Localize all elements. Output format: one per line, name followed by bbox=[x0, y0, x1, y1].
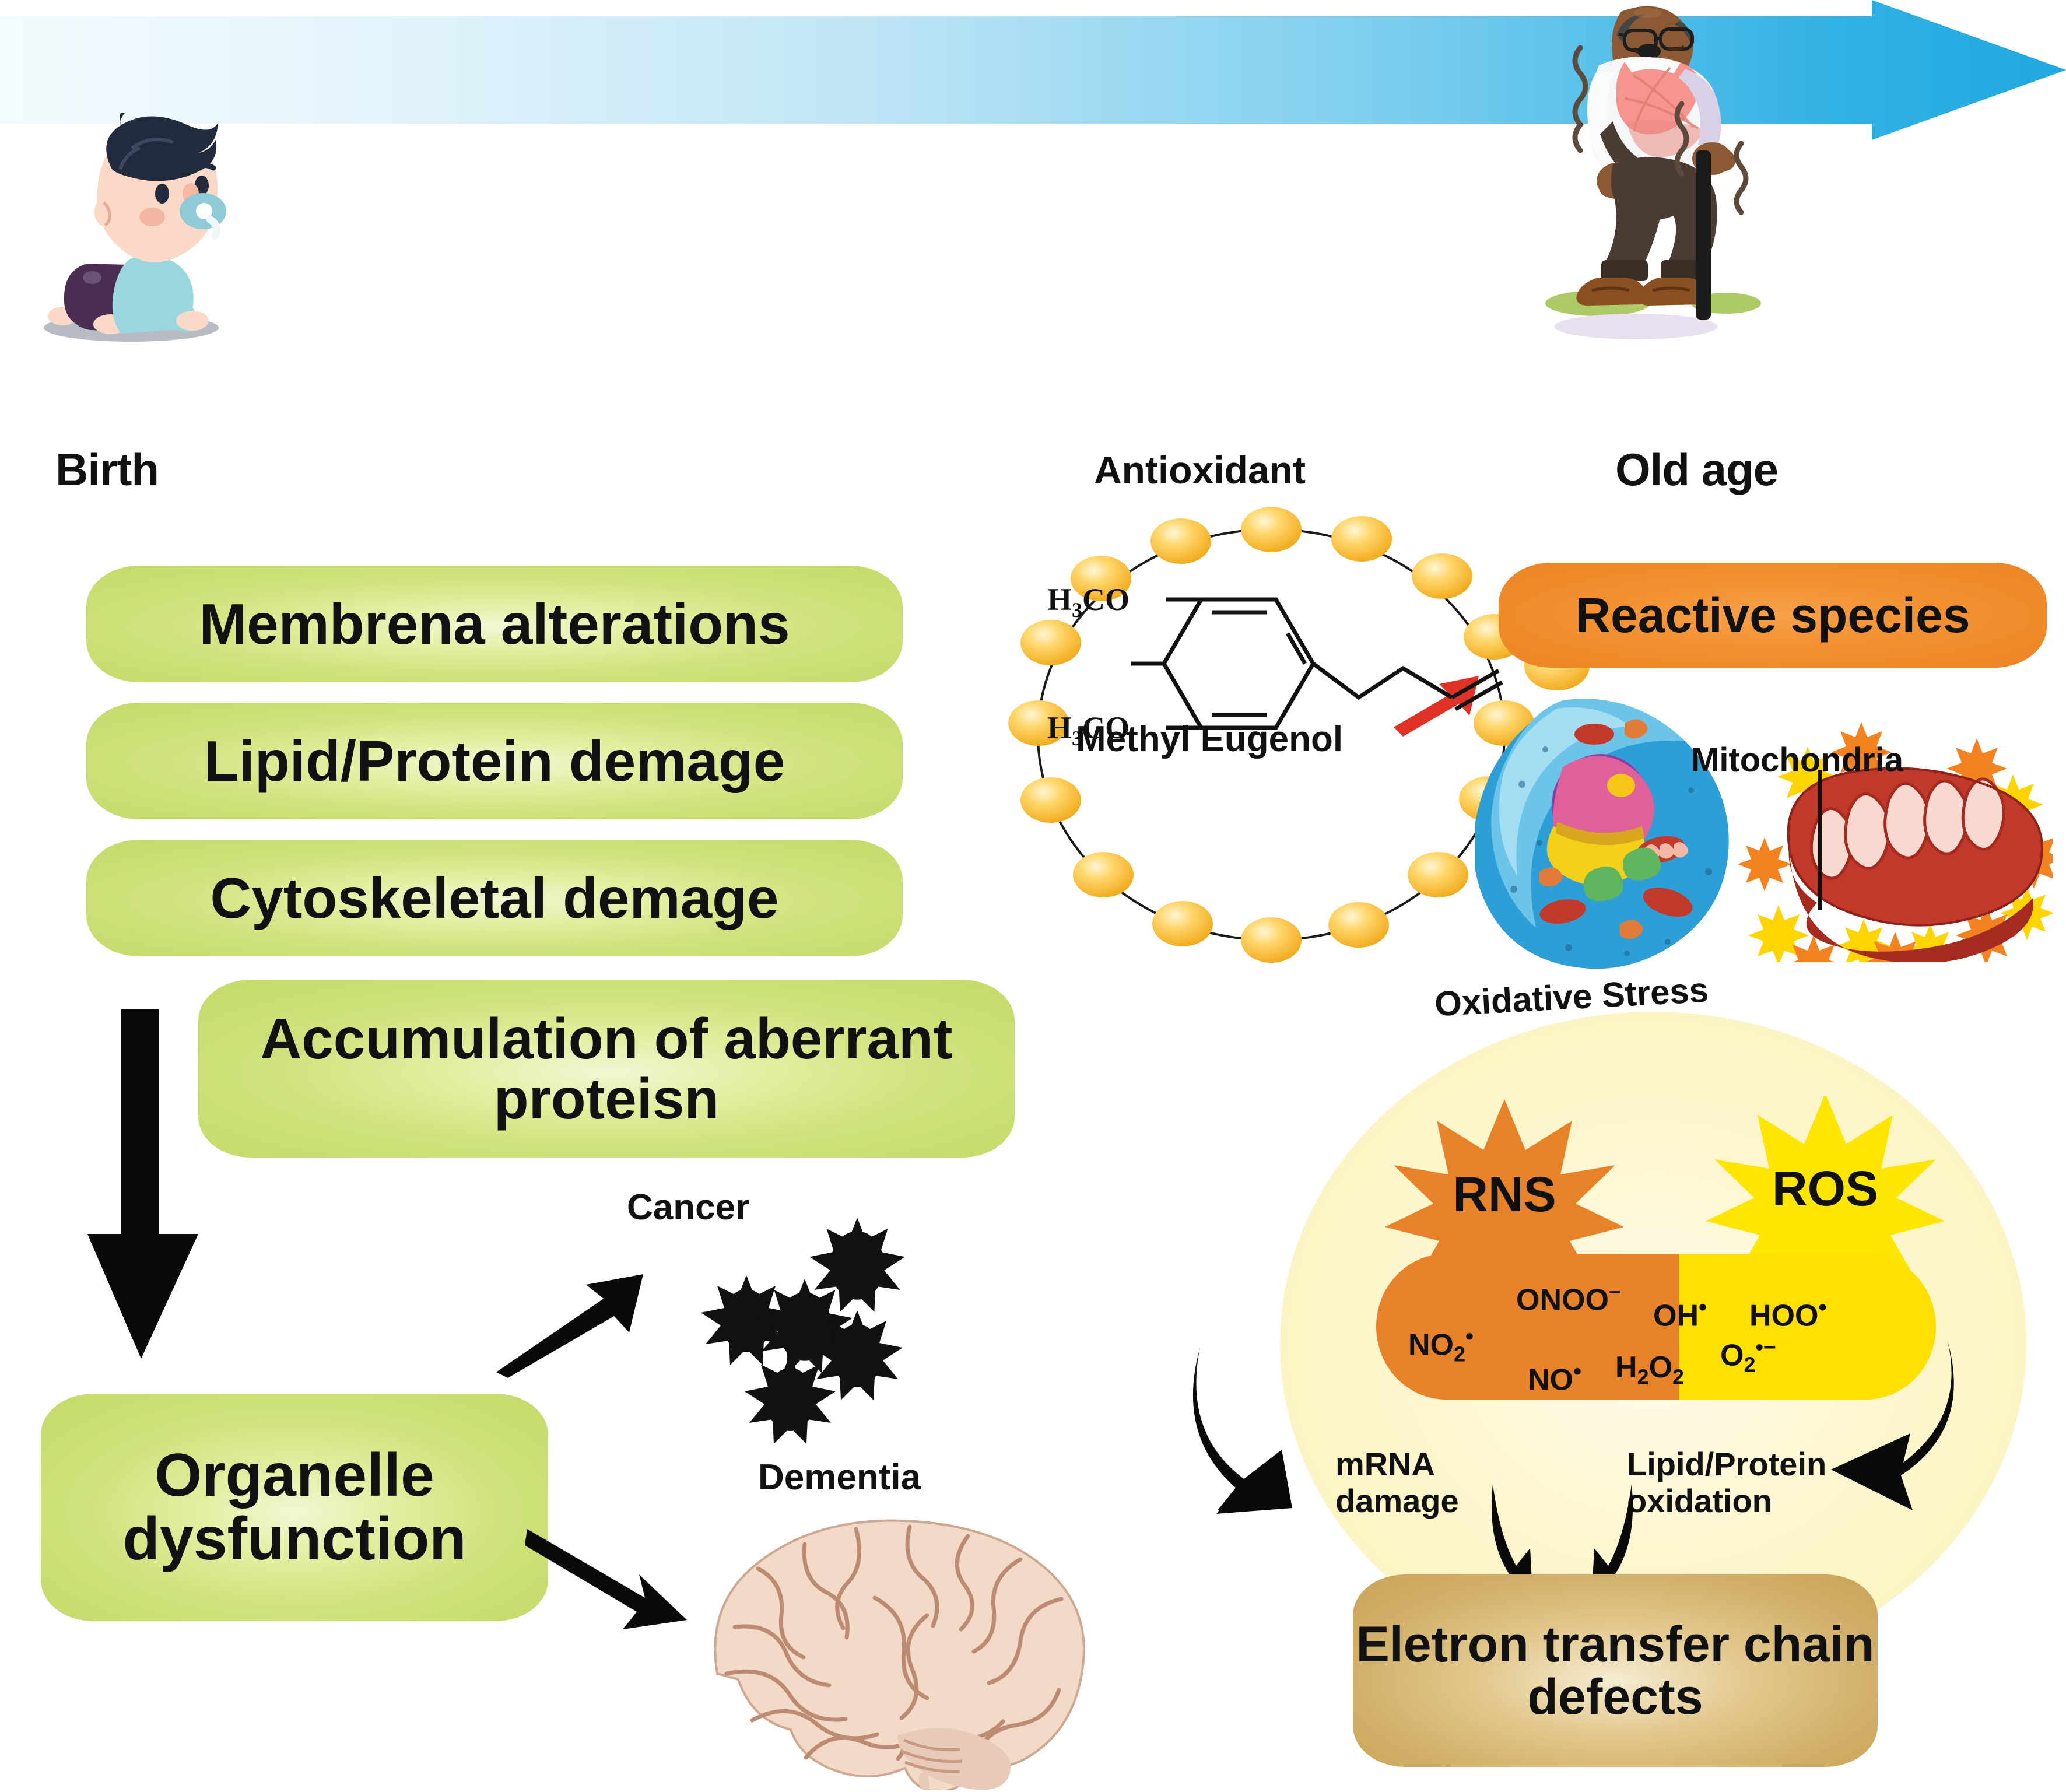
mrna-damage-label: mRNA damage bbox=[1335, 1446, 1459, 1519]
birth-label: Birth bbox=[55, 443, 159, 496]
brain-illustration bbox=[653, 1499, 1120, 1790]
mitochondria-label: Mitochondria bbox=[1691, 741, 1903, 780]
box-aberrant-protein-accumulation[interactable]: Accumulation of aberrant proteisn bbox=[198, 980, 1015, 1158]
arrow-to-cancer bbox=[493, 1274, 644, 1379]
mitochondria-leader-line bbox=[1816, 770, 1823, 910]
curved-arrow-to-lipid-oxidation bbox=[1831, 1330, 2064, 1539]
elderly-man-illustration bbox=[1510, 0, 1802, 356]
animal-cell-illustration bbox=[1475, 697, 1744, 977]
down-arrow-to-organelle-dysfunction bbox=[87, 1009, 222, 1359]
cancer-cells-illustration bbox=[682, 1201, 1009, 1505]
box-organelle-dysfunction[interactable]: Organelle dysfunction bbox=[41, 1394, 548, 1621]
antioxidant-title: Antioxidant bbox=[1094, 448, 1306, 492]
box-lipid-protein-damage[interactable]: Lipid/Protein demage bbox=[86, 703, 903, 819]
rns-label: RNS bbox=[1434, 1166, 1574, 1223]
old-age-label: Old age bbox=[1615, 443, 1778, 496]
box-electron-transfer-chain-defects[interactable]: Eletron transfer chain defects bbox=[1353, 1574, 1878, 1767]
diagram-canvas: Birth Old age Membrena alterations Lipid… bbox=[0, 0, 2066, 1792]
baby-illustration bbox=[17, 111, 233, 344]
methoxy-label-upper: H3CO bbox=[1047, 582, 1130, 622]
ros-label: ROS bbox=[1755, 1160, 1895, 1217]
methyl-eugenol-label: Methyl Eugenol bbox=[1076, 718, 1343, 760]
box-membrane-alterations[interactable]: Membrena alterations bbox=[86, 566, 903, 682]
species-no: NO• bbox=[1528, 1359, 1581, 1397]
box-reactive-species[interactable]: Reactive species bbox=[1499, 563, 2047, 668]
mrna-line-2: damage bbox=[1335, 1482, 1459, 1519]
methyl-eugenol-structure: H3CO H3CO bbox=[1044, 554, 1545, 799]
species-onoo: ONOO− bbox=[1516, 1280, 1621, 1317]
species-h2o2: H2O2 bbox=[1615, 1350, 1684, 1389]
box-cytoskeletal-damage[interactable]: Cytoskeletal demage bbox=[86, 840, 903, 956]
lipid-line-2: oxidation bbox=[1627, 1482, 1772, 1519]
lipid-oxidation-label: Lipid/Protein oxidation bbox=[1627, 1446, 1826, 1519]
species-oh: OH• bbox=[1653, 1295, 1707, 1333]
mrna-line-1: mRNA bbox=[1335, 1446, 1435, 1482]
lipid-line-1: Lipid/Protein bbox=[1627, 1446, 1826, 1482]
species-hoo: HOO• bbox=[1749, 1295, 1826, 1333]
species-superoxide: O2•− bbox=[1720, 1335, 1776, 1377]
